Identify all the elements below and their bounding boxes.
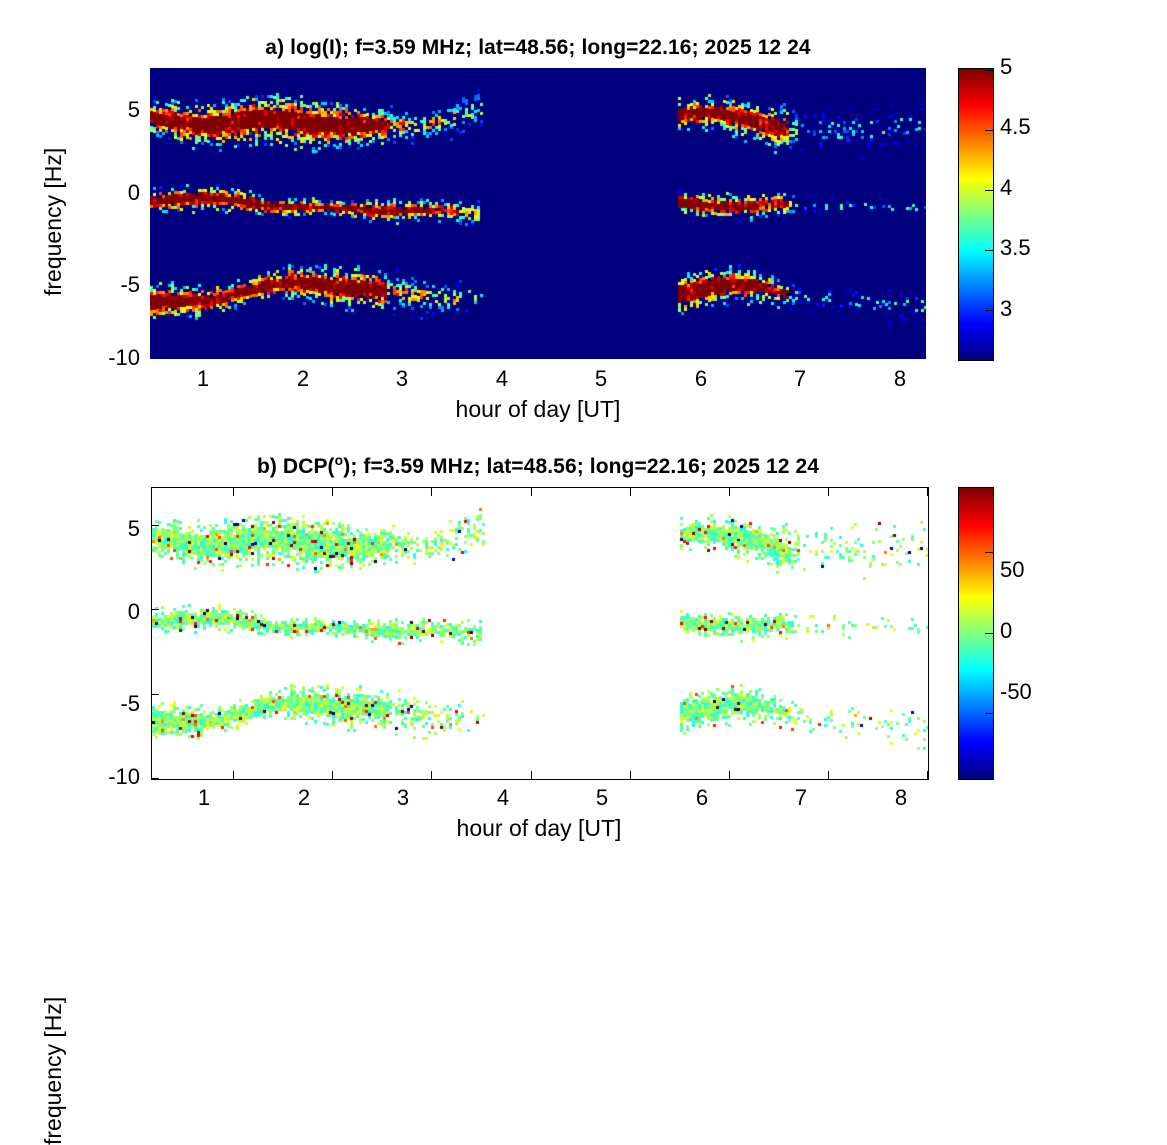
panel-a-ylabel: frequency [Hz] bbox=[40, 148, 67, 296]
panel-b-xtickmark-5-1 bbox=[630, 771, 631, 779]
panel-a-ytick-3-label: -10 bbox=[108, 345, 140, 370]
panel-a-xlabel-text: hour of day [UT] bbox=[456, 396, 621, 422]
panel-b-xtick-1: 2 bbox=[284, 785, 324, 811]
panel-a-colorbar-tickmark-0 bbox=[985, 70, 993, 71]
panel-a-xtick-4: 5 bbox=[581, 366, 621, 392]
panel-b-colorbar-tick-0: 50 bbox=[1000, 557, 1024, 583]
panel-b-xtick-4-label: 5 bbox=[596, 785, 608, 810]
panel-b-ylabel: frequency [Hz] bbox=[40, 997, 67, 1145]
panel-b-xtickmark-5-0 bbox=[630, 488, 631, 496]
panel-a-xtick-5: 6 bbox=[681, 366, 721, 392]
panel-b-plot-area[interactable] bbox=[151, 487, 929, 780]
panel-a-cbtick-0-label: 5 bbox=[1000, 54, 1012, 79]
panel-a-ytick-2: -5 bbox=[78, 272, 140, 298]
panel-a-colorbar-tickmark-1 bbox=[985, 130, 993, 131]
panel-a-xtick-3: 4 bbox=[482, 366, 522, 392]
panel-b-ytickmark-2 bbox=[152, 694, 159, 695]
panel-b-colorbar-tick-1: 0 bbox=[1000, 618, 1012, 644]
panel-b-xtick-6: 7 bbox=[781, 785, 821, 811]
panel-b-title-before: b) DCP( bbox=[257, 455, 335, 478]
panel-b-title-degree-symbol: o bbox=[335, 452, 344, 468]
panel-a-xlabel: hour of day [UT] bbox=[150, 396, 926, 423]
panel-b-colorbar-tick-2: -50 bbox=[1000, 679, 1032, 705]
panel-a-colorbar-tick-2: 4 bbox=[1000, 175, 1012, 201]
panel-a-colorbar-tick-4: 3 bbox=[1000, 296, 1012, 322]
panel-a-xtick-6: 7 bbox=[780, 366, 820, 392]
panel-b-xtick-5-label: 6 bbox=[696, 785, 708, 810]
panel-a-xtick-4-label: 5 bbox=[595, 366, 607, 391]
panel-a-xtick-1: 2 bbox=[283, 366, 323, 392]
panel-b-xtick-7: 8 bbox=[881, 785, 921, 811]
panel-b-xtick-2-label: 3 bbox=[397, 785, 409, 810]
panel-b-xtickmark-7-0 bbox=[828, 488, 829, 496]
panel-a-ytick-1: 0 bbox=[78, 180, 140, 206]
panel-a-ytick-0-label: 5 bbox=[128, 97, 140, 122]
panel-b-cbtick-0-label: 50 bbox=[1000, 557, 1024, 582]
panel-a-colorbar-tick-1: 4.5 bbox=[1000, 114, 1031, 140]
panel-b-ylabel-text: frequency [Hz] bbox=[40, 997, 66, 1145]
panel-b-xtickmark-4-1 bbox=[531, 771, 532, 779]
panel-a-colorbar-tickmark-2 bbox=[985, 190, 993, 191]
panel-b-colorbar-tickmark-2 bbox=[985, 713, 993, 714]
panel-a-xtick-7-label: 8 bbox=[894, 366, 906, 391]
panel-b-xtickmark-6-0 bbox=[729, 488, 730, 496]
panel-b-xtickmark-3-1 bbox=[431, 771, 432, 779]
panel-b-ytick-0: 5 bbox=[78, 516, 140, 542]
panel-b-xtick-2: 3 bbox=[383, 785, 423, 811]
panel-b-xtick-4: 5 bbox=[582, 785, 622, 811]
panel-a-ytick-2-label: -5 bbox=[120, 272, 140, 297]
panel-a-ytick-3: -10 bbox=[78, 345, 140, 371]
panel-b-xtickmark-6-1 bbox=[729, 771, 730, 779]
panel-a-cbtick-4-label: 3 bbox=[1000, 296, 1012, 321]
panel-a-xtick-1-label: 2 bbox=[297, 366, 309, 391]
panel-a-ytick-0: 5 bbox=[78, 97, 140, 123]
panel-b-cbtick-2-label: -50 bbox=[1000, 679, 1032, 704]
panel-b-xlabel: hour of day [UT] bbox=[151, 815, 927, 842]
panel-a-xtick-6-label: 7 bbox=[794, 366, 806, 391]
panel-b-xtickmark-2-1 bbox=[332, 771, 333, 779]
panel-b-xtick-0: 1 bbox=[184, 785, 224, 811]
panel-a-title: a) log(I); f=3.59 MHz; lat=48.56; long=2… bbox=[150, 36, 926, 60]
panel-b-xtickmark-1-1 bbox=[233, 771, 234, 779]
panel-b-xtick-0-label: 1 bbox=[198, 785, 210, 810]
panel-a-ylabel-text: frequency [Hz] bbox=[40, 148, 66, 296]
panel-a-xtick-2: 3 bbox=[382, 366, 422, 392]
panel-b-xtick-3-label: 4 bbox=[497, 785, 509, 810]
panel-b-xtick-5: 6 bbox=[682, 785, 722, 811]
panel-b-title-after: ); f=3.59 MHz; lat=48.56; long=22.16; 20… bbox=[343, 455, 819, 478]
panel-a: a) log(I); f=3.59 MHz; lat=48.56; long=2… bbox=[0, 0, 1167, 430]
panel-b-ytick-2: -5 bbox=[78, 691, 140, 717]
panel-a-colorbar[interactable] bbox=[958, 68, 994, 361]
panel-a-xtick-2-label: 3 bbox=[396, 366, 408, 391]
panel-a-colorbar-tick-3: 3.5 bbox=[1000, 235, 1031, 261]
panel-b-ytick-1: 0 bbox=[78, 599, 140, 625]
panel-b-xtickmark-1-0 bbox=[233, 488, 234, 496]
panel-b-ytickmark-3 bbox=[152, 778, 159, 779]
panel-a-xtick-7: 8 bbox=[880, 366, 920, 392]
panel-a-cbtick-2-label: 4 bbox=[1000, 175, 1012, 200]
panel-a-colorbar-tickmark-3 bbox=[985, 250, 993, 251]
panel-a-colorbar-tick-0: 5 bbox=[1000, 54, 1012, 80]
panel-b-colorbar[interactable] bbox=[958, 487, 994, 780]
panel-b-ytick-3: -10 bbox=[78, 764, 140, 790]
panel-b-ytick-1-label: 0 bbox=[128, 599, 140, 624]
panel-b-xtickmark-2-0 bbox=[332, 488, 333, 496]
panel-b-xlabel-text: hour of day [UT] bbox=[457, 815, 622, 841]
panel-a-cbtick-3-label: 3.5 bbox=[1000, 235, 1031, 260]
panel-b-xtickmark-4-0 bbox=[531, 488, 532, 496]
panel-b-xtickmark-8-0 bbox=[927, 488, 928, 496]
panel-b-xtickmark-3-0 bbox=[431, 488, 432, 496]
panel-b-title: b) DCP(o); f=3.59 MHz; lat=48.56; long=2… bbox=[150, 452, 926, 479]
panel-b-ytick-2-label: -5 bbox=[120, 691, 140, 716]
panel-b-ytick-3-label: -10 bbox=[108, 764, 140, 789]
panel-b-colorbar-tickmark-0 bbox=[985, 552, 993, 553]
panel-a-cbtick-1-label: 4.5 bbox=[1000, 114, 1031, 139]
panel-b-colorbar-tickmark-1 bbox=[985, 633, 993, 634]
panel-b: b) DCP(o); f=3.59 MHz; lat=48.56; long=2… bbox=[0, 430, 1167, 875]
panel-b-xtick-6-label: 7 bbox=[795, 785, 807, 810]
figure-canvas: a) log(I); f=3.59 MHz; lat=48.56; long=2… bbox=[0, 0, 1167, 875]
panel-b-xtickmark-7-1 bbox=[828, 771, 829, 779]
panel-a-plot-area[interactable] bbox=[150, 68, 926, 359]
panel-a-xtick-0: 1 bbox=[183, 366, 223, 392]
panel-b-xtick-1-label: 2 bbox=[298, 785, 310, 810]
panel-b-cbtick-1-label: 0 bbox=[1000, 618, 1012, 643]
panel-b-ytickmark-1 bbox=[152, 609, 159, 610]
panel-a-ytick-1-label: 0 bbox=[128, 180, 140, 205]
panel-b-xtickmark-8-1 bbox=[927, 771, 928, 779]
panel-a-xtick-5-label: 6 bbox=[695, 366, 707, 391]
panel-a-xtick-3-label: 4 bbox=[496, 366, 508, 391]
panel-b-xtick-7-label: 8 bbox=[895, 785, 907, 810]
panel-b-ytick-0-label: 5 bbox=[128, 516, 140, 541]
panel-b-ytickmark-0 bbox=[152, 525, 159, 526]
panel-a-xtick-0-label: 1 bbox=[197, 366, 209, 391]
panel-b-xtick-3: 4 bbox=[483, 785, 523, 811]
panel-a-colorbar-tickmark-4 bbox=[985, 310, 993, 311]
panel-a-title-text: a) log(I); f=3.59 MHz; lat=48.56; long=2… bbox=[265, 36, 810, 59]
